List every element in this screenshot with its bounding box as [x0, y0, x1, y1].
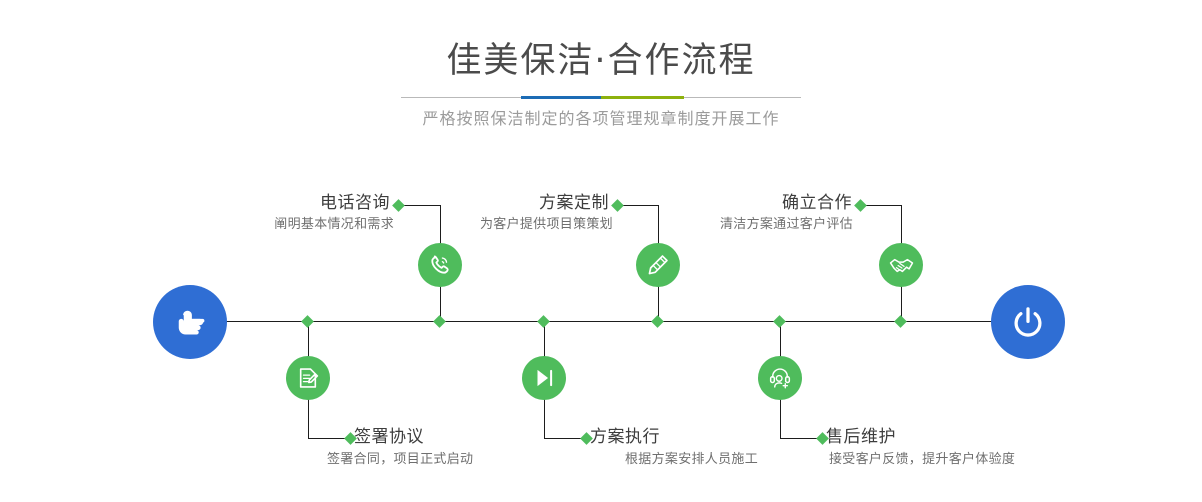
step-3-icon-circle[interactable] [636, 243, 680, 287]
step-2-title: 签署协议 [354, 426, 424, 448]
step-1-desc: 阐明基本情况和需求 [164, 215, 394, 235]
contract-document-icon [295, 365, 321, 391]
step-5-desc: 清洁方案通过客户评估 [620, 215, 853, 235]
step-3-desc: 为客户提供项目策策划 [380, 215, 613, 235]
axis-marker-6 [773, 315, 786, 328]
divider-blue-segment [521, 96, 601, 99]
axis-marker-4 [537, 315, 550, 328]
power-button-icon [1009, 303, 1047, 341]
end-node[interactable] [991, 285, 1065, 359]
title-divider [401, 96, 801, 99]
play-execute-icon [531, 365, 557, 391]
step-4-title: 方案执行 [590, 426, 660, 448]
flow-chart-canvas: 佳美保洁·合作流程 严格按照保洁制定的各项管理规章制度开展工作 [0, 0, 1202, 502]
step-2-desc: 签署合同，项目正式启动 [327, 450, 473, 470]
start-node[interactable] [153, 285, 227, 359]
customer-service-icon [767, 365, 793, 391]
step-5-label-marker [854, 199, 867, 212]
page-subtitle: 严格按照保洁制定的各项管理规章制度开展工作 [0, 107, 1202, 131]
axis-marker-3 [651, 315, 664, 328]
handshake-icon [888, 252, 915, 279]
divider-green-segment [601, 96, 684, 99]
step-1-title: 电话咨询 [164, 192, 390, 214]
step-3-title: 方案定制 [386, 192, 609, 214]
step-5-icon-circle[interactable] [879, 243, 923, 287]
step-2-icon-circle[interactable] [286, 356, 330, 400]
axis-marker-1 [433, 315, 446, 328]
axis-marker-5 [894, 315, 907, 328]
step-6-icon-circle[interactable] [758, 356, 802, 400]
step-6-title: 售后维护 [826, 426, 896, 448]
step-1-icon-circle[interactable] [418, 243, 462, 287]
pointing-hand-icon [170, 302, 210, 342]
step-6-desc: 接受客户反馈，提升客户体验度 [829, 450, 1015, 470]
step-4-desc: 根据方案安排人员施工 [625, 450, 758, 470]
page-title: 佳美保洁·合作流程 [0, 38, 1202, 84]
phone-call-icon [427, 252, 453, 278]
pencil-design-icon [645, 252, 671, 278]
step-4-icon-circle[interactable] [522, 356, 566, 400]
step-3-label-marker [611, 199, 624, 212]
axis-marker-2 [301, 315, 314, 328]
step-5-title: 确立合作 [630, 192, 852, 214]
